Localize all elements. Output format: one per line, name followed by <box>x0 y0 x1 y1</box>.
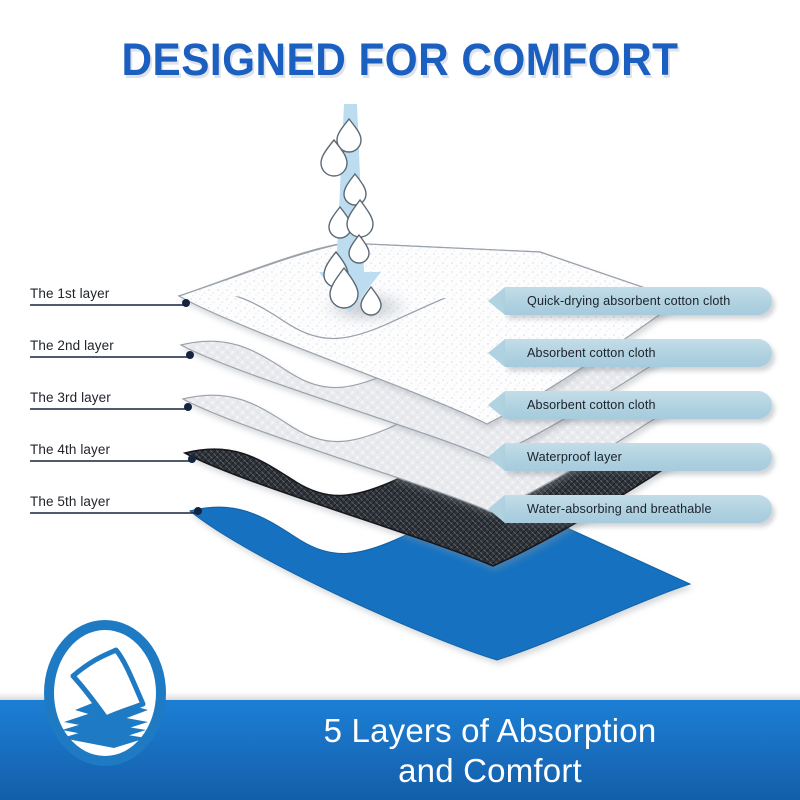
banner-line-1: 5 Layers of Absorption <box>324 711 657 751</box>
layer-description-2: Absorbent cotton cloth <box>505 339 772 367</box>
layer-label-3: The 3rd layer <box>30 390 111 405</box>
layer-label-5: The 5th layer <box>30 494 110 509</box>
banner-text: 5 Layers of Absorption and Comfort <box>180 702 800 800</box>
stacked-sheets-badge <box>42 618 168 768</box>
layer-description-5: Water-absorbing and breathable <box>505 495 772 523</box>
layer-description-3: Absorbent cotton cloth <box>505 391 772 419</box>
layer-label-2: The 2nd layer <box>30 338 114 353</box>
banner-line-2: and Comfort <box>398 751 582 791</box>
layer-description-1: Quick-drying absorbent cotton cloth <box>505 287 772 315</box>
layer-label-4: The 4th layer <box>30 442 110 457</box>
infographic-page: DESIGNED FOR COMFORT <box>0 0 800 800</box>
layer-description-4: Waterproof layer <box>505 443 772 471</box>
leader-lines <box>30 305 196 513</box>
layer-label-1: The 1st layer <box>30 286 109 301</box>
